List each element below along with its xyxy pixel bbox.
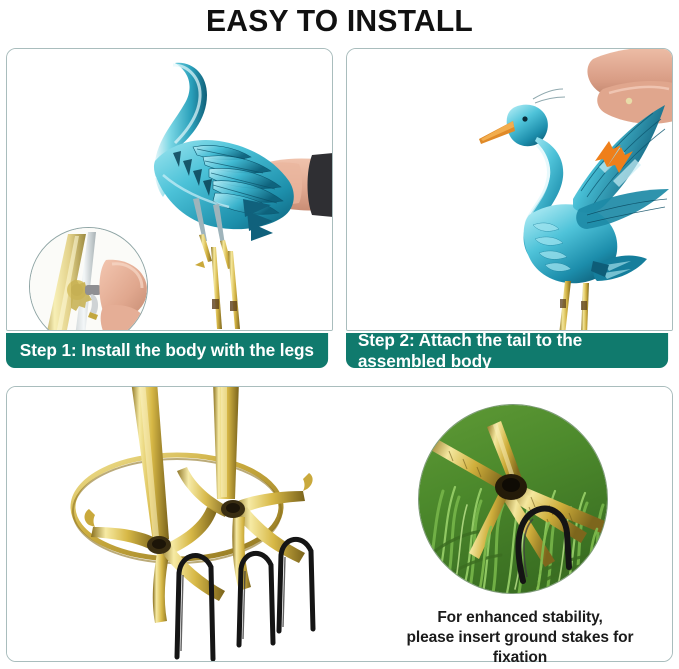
step-1-label-bar: Step 1: Install the body with the legs — [6, 333, 328, 368]
caption-line-2: please insert ground stakes for fixation — [380, 628, 660, 668]
step-1-label: Step 1: Install the body with the legs — [20, 340, 314, 361]
step-1-panel — [6, 48, 333, 331]
grass-stake-closeup-inset — [418, 404, 608, 594]
step-2-illustration — [347, 49, 673, 331]
thumbscrew-illustration — [30, 228, 147, 331]
step-2-panel — [346, 48, 673, 331]
grass-closeup-illustration — [419, 405, 607, 593]
caption-line-1: For enhanced stability, — [380, 608, 660, 628]
step-2-label-bar: Step 2: Attach the tail to the assembled… — [346, 333, 668, 368]
step-2-label: Step 2: Attach the tail to the assembled… — [358, 330, 668, 372]
page-title: EASY TO INSTALL — [10, 2, 669, 40]
stability-caption: For enhanced stability, please insert gr… — [380, 608, 660, 668]
infographic-page: EASY TO INSTALL — [0, 0, 679, 669]
